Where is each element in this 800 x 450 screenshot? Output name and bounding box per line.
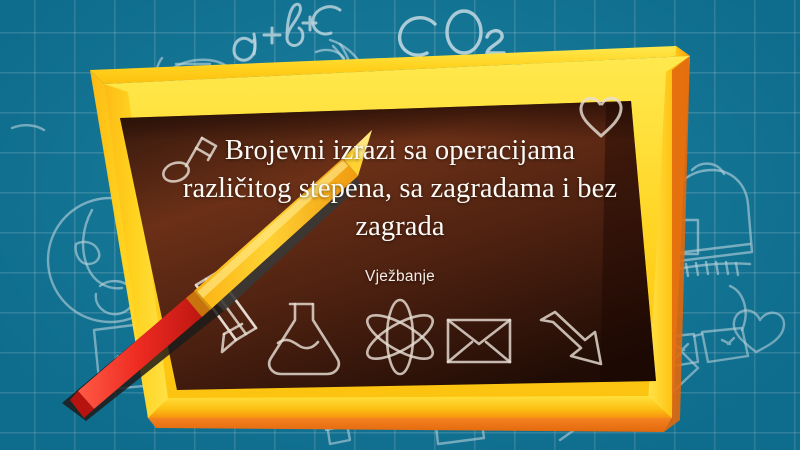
pencil-body [194, 158, 358, 310]
pencil-eraser [78, 291, 210, 409]
pencil-graphic [0, 0, 800, 450]
pencil-highlight [196, 160, 348, 299]
presentation-slide: Brojevni izrazi sa operacijama različito… [0, 0, 800, 450]
